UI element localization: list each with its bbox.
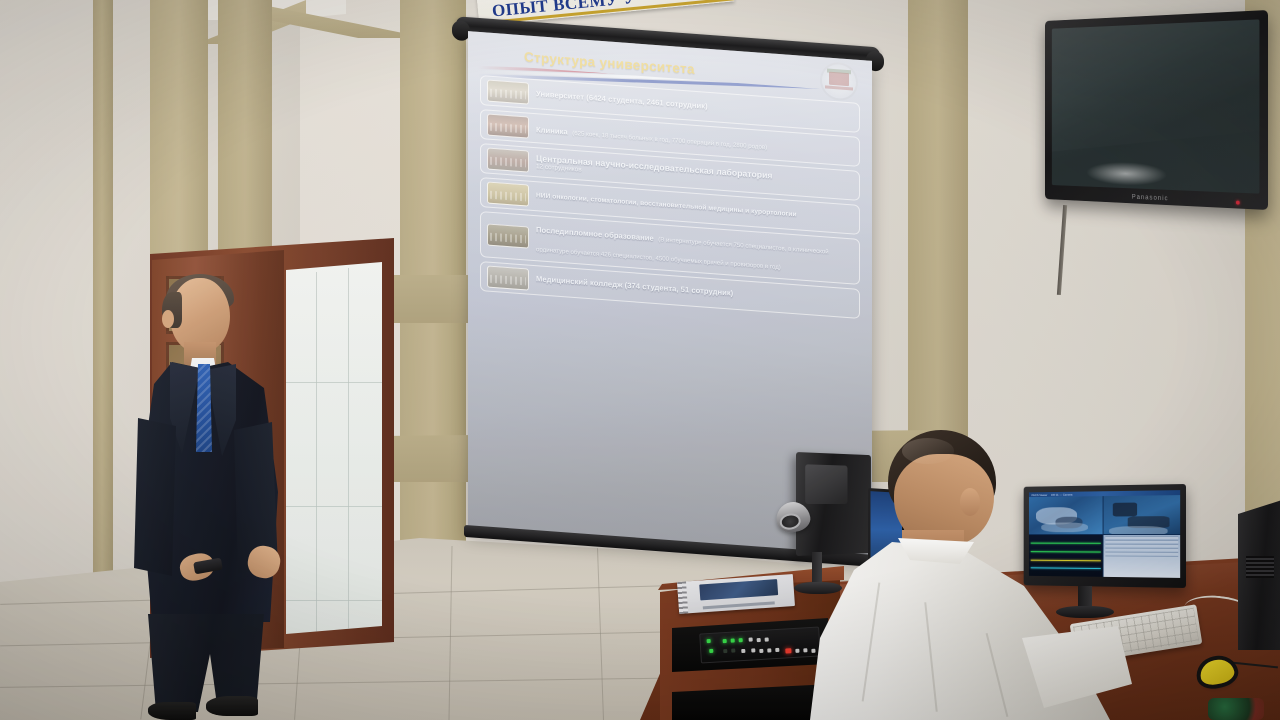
presenter-tie xyxy=(196,364,212,452)
tv-highlight xyxy=(1086,161,1167,187)
presenter-shoe-left xyxy=(148,702,196,720)
presenter-arm-left xyxy=(128,418,176,578)
presenter-shoe-right xyxy=(206,696,258,716)
presenter-ear xyxy=(162,310,174,328)
booklet-spiral-binding xyxy=(677,581,688,614)
thumbnail-university-building xyxy=(487,80,529,105)
row-detail: (В интернатуре обучается 750 специалисто… xyxy=(536,236,829,271)
operator-hair-highlight xyxy=(902,438,954,464)
thumbnail-research-institute xyxy=(487,182,529,207)
row-title: Университет (6424 студента, 2461 сотрудн… xyxy=(536,90,708,112)
corridor-beyond-door xyxy=(286,262,382,634)
thumbnail-medical-college xyxy=(487,265,529,290)
tv-bezel: Panasonic xyxy=(1045,10,1268,210)
pc-tower-vent xyxy=(1246,556,1274,578)
row-detail: (625 коек, 18 тысяч больных в год, 7700 … xyxy=(572,129,767,150)
row-title: Последипломное образование xyxy=(536,225,654,243)
seated-operator xyxy=(810,430,1110,720)
speaker-grill xyxy=(779,512,802,531)
conference-room-scene: EST RER ОПЫТ ВСЕМУ У Структура университ… xyxy=(0,0,1280,720)
tv-brand-label: Panasonic xyxy=(1132,194,1169,202)
university-crest-icon xyxy=(818,59,860,104)
thumbnail-laboratory-building xyxy=(487,148,529,173)
wall-pilaster-1 xyxy=(93,0,113,600)
wall-pilaster-5 xyxy=(908,0,968,470)
operator-ear xyxy=(960,488,980,516)
standing-presenter xyxy=(118,278,288,720)
slide-rows: Университет (6424 студента, 2461 сотрудн… xyxy=(480,75,860,319)
tv-reflection xyxy=(1052,19,1260,152)
thumbnail-clinic-building xyxy=(487,114,529,139)
feed-quadrant-camera-2 xyxy=(1103,490,1180,533)
thumbnail-postgraduate-building xyxy=(487,223,529,248)
row-title: НИИ онкологии, стоматологии, восстановит… xyxy=(536,192,797,219)
desk-clutter xyxy=(1208,698,1264,720)
row-title: Клиника xyxy=(536,125,568,136)
booklet-cover-image xyxy=(699,579,778,600)
presentation-slide: Структура университета Университет (6424… xyxy=(468,31,872,421)
feed-quadrant-patient-list xyxy=(1103,535,1180,578)
row-title: Медицинский колледж (374 студента, 51 со… xyxy=(536,275,733,298)
tv-screen xyxy=(1052,19,1260,193)
tv-power-led xyxy=(1236,201,1240,205)
wall-mounted-tv[interactable]: Panasonic xyxy=(1045,10,1268,210)
